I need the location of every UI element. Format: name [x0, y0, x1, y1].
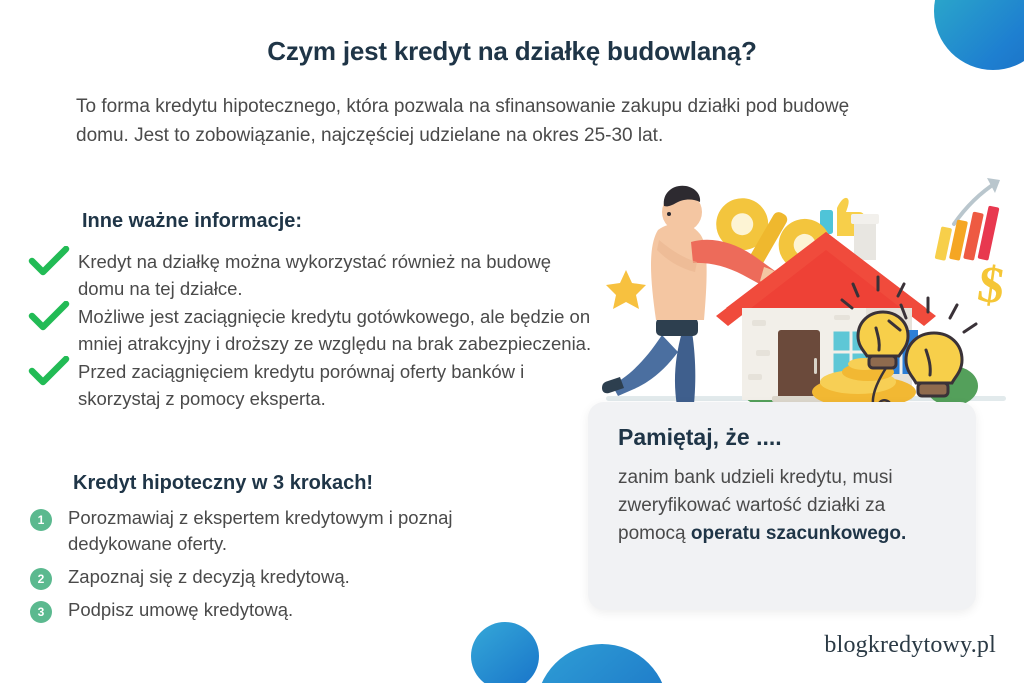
check-icon [26, 356, 78, 386]
remember-body-bold: operatu szacunkowego. [691, 523, 906, 544]
remember-panel-title: Pamiętaj, że .... [618, 424, 950, 451]
check-icon [26, 246, 78, 276]
infographic-canvas: Czym jest kredyt na działkę budowlaną? T… [0, 0, 1024, 683]
svg-text:$: $ [974, 255, 1008, 315]
check-icon [26, 301, 78, 331]
intro-paragraph: To forma kredytu hipotecznego, która poz… [76, 92, 866, 150]
step-number-badge: 2 [30, 568, 52, 590]
site-logo: blogkredytowy.pl [824, 632, 996, 659]
step-number-badge: 1 [30, 509, 52, 531]
list-item-label: Podpisz umowę kredytową. [68, 597, 293, 623]
decorative-circle-bottom-large [536, 644, 668, 683]
list-item-label: Przed zaciągnięciem kredytu porównaj ofe… [78, 358, 596, 412]
checklist: Kredyt na działkę można wykorzystać równ… [26, 248, 596, 413]
remember-panel-body: zanim bank udzieli kredytu, musi zweryfi… [618, 464, 950, 548]
star-icon [606, 270, 646, 309]
hero-illustration: $ [596, 160, 1016, 420]
list-item: 2 Zapoznaj się z decyzją kredytową. [30, 564, 550, 590]
page-title: Czym jest kredyt na działkę budowlaną? [0, 36, 1024, 67]
section-heading-other-info: Inne ważne informacje: [82, 210, 302, 233]
list-item: Możliwe jest zaciągnięcie kredytu gotówk… [26, 303, 596, 357]
list-item: Kredyt na działkę można wykorzystać równ… [26, 248, 596, 302]
list-item: Przed zaciągnięciem kredytu porównaj ofe… [26, 358, 596, 412]
list-item: 1 Porozmawiaj z ekspertem kredytowym i p… [30, 505, 550, 557]
remember-panel: Pamiętaj, że .... zanim bank udzieli kre… [588, 402, 976, 610]
list-item-label: Zapoznaj się z decyzją kredytową. [68, 564, 350, 590]
growth-chart-icon [935, 178, 1000, 261]
steps-list: 1 Porozmawiaj z ekspertem kredytowym i p… [30, 505, 550, 630]
list-item-label: Porozmawiaj z ekspertem kredytowym i poz… [68, 505, 550, 557]
section-heading-three-steps: Kredyt hipoteczny w 3 krokach! [73, 472, 373, 495]
dollar-icon: $ [974, 255, 1008, 315]
decorative-circle-bottom-small [471, 622, 539, 683]
list-item-label: Kredyt na działkę można wykorzystać równ… [78, 248, 596, 302]
list-item: 3 Podpisz umowę kredytową. [30, 597, 550, 623]
list-item-label: Możliwe jest zaciągnięcie kredytu gotówk… [78, 303, 596, 357]
step-number-badge: 3 [30, 601, 52, 623]
